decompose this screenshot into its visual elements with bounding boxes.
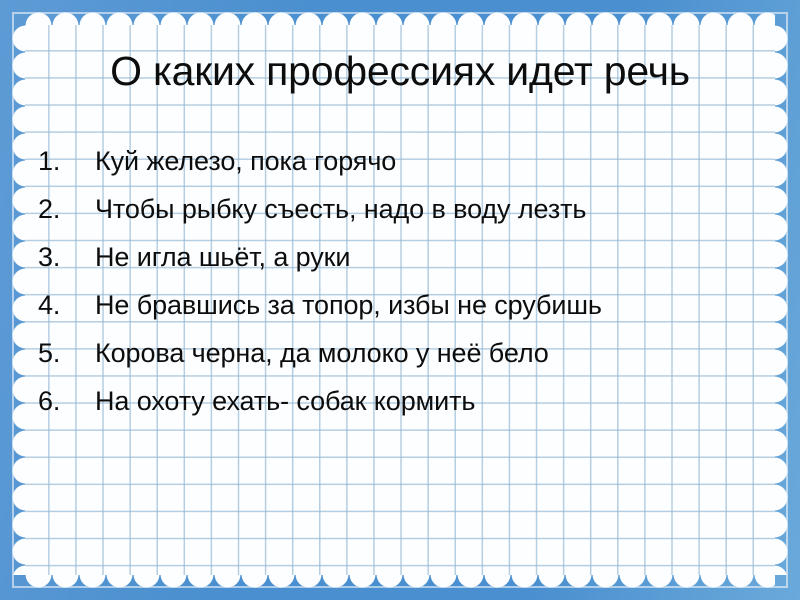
list-item-text: Корова черна, да молоко у неё бело	[95, 329, 755, 377]
list-item: 4. Не бравшись за топор, избы не срубишь	[25, 281, 775, 329]
slide: О каких профессиях идет речь 1. Куй желе…	[0, 0, 800, 600]
list-item-text: На охоту ехать- собак кормить	[95, 377, 755, 425]
list-item: 3. Не игла шьёт, а руки	[25, 233, 775, 281]
list-item-text: Не игла шьёт, а руки	[95, 233, 755, 281]
list-item: 2. Чтобы рыбку съесть, надо в воду лезть	[25, 185, 775, 233]
list-item-number: 3.	[38, 233, 82, 281]
list-item: 1. Куй железо, пока горячо	[25, 137, 775, 185]
list-item-number: 2.	[38, 185, 82, 233]
list-item-number: 6.	[38, 377, 82, 425]
list-item-number: 1.	[38, 137, 82, 185]
list-item: 5. Корова черна, да молоко у неё бело	[25, 329, 775, 377]
list-item-number: 5.	[38, 329, 82, 377]
scalloped-paper: О каких профессиях идет речь 1. Куй желе…	[25, 25, 775, 575]
list-item-text: Чтобы рыбку съесть, надо в воду лезть	[95, 185, 755, 233]
list-item: 6. На охоту ехать- собак кормить	[25, 377, 775, 425]
list-item-text: Не бравшись за топор, избы не срубишь	[95, 281, 755, 329]
numbered-list: 1. Куй железо, пока горячо 2. Чтобы рыбк…	[25, 137, 775, 425]
slide-content: О каких профессиях идет речь 1. Куй желе…	[25, 25, 775, 575]
slide-title: О каких профессиях идет речь	[25, 47, 775, 95]
list-item-text: Куй железо, пока горячо	[95, 137, 755, 185]
list-item-number: 4.	[38, 281, 82, 329]
